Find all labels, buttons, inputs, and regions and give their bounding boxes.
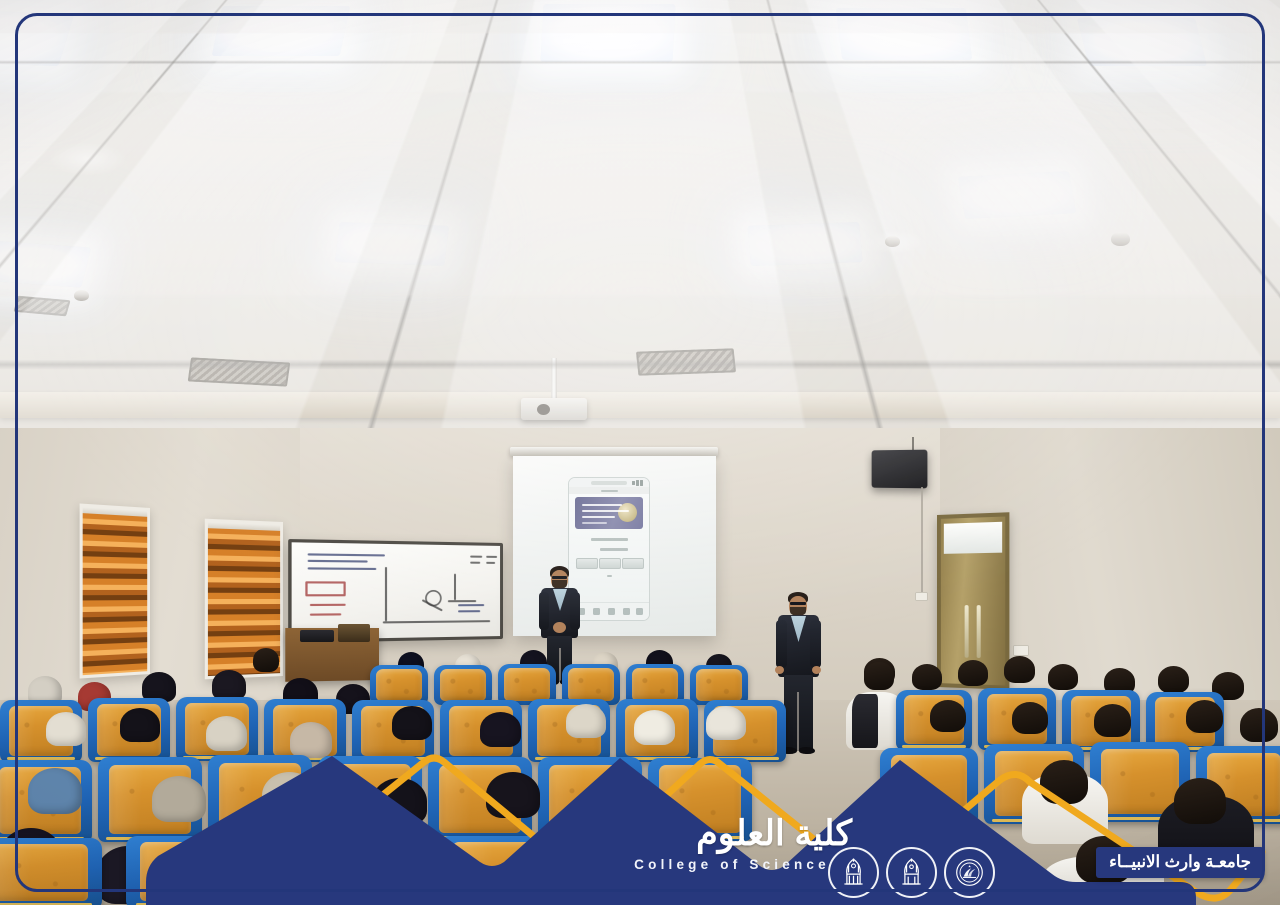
ceiling-led-panel — [958, 171, 1076, 219]
ceiling-led-panel — [335, 222, 449, 266]
wall-outlet — [1013, 645, 1029, 656]
seat — [370, 665, 428, 705]
audience-head — [392, 706, 432, 740]
audience-head — [46, 712, 86, 746]
seat — [690, 665, 748, 705]
seat — [434, 665, 492, 705]
audience-head — [706, 706, 746, 740]
audience-head — [1158, 666, 1189, 693]
university-name-tag: جامعـة وارث الانبيــاء — [1096, 847, 1264, 878]
door-handle[interactable] — [965, 605, 969, 658]
audience-head — [1094, 704, 1131, 737]
phone-action-button — [622, 558, 644, 569]
window-left-far — [80, 503, 150, 678]
projector-mount-pole — [551, 358, 557, 402]
window-blind — [83, 507, 148, 675]
college-name-arabic: كلية العلوم — [612, 816, 852, 851]
laptop-left — [300, 630, 334, 642]
phone-action-button — [599, 558, 621, 569]
hvac-vent — [636, 348, 736, 375]
audience-head — [958, 660, 988, 686]
audience-head — [290, 722, 332, 758]
audience-head — [1012, 702, 1048, 734]
audience-head — [1240, 708, 1278, 742]
audience-torso — [852, 694, 878, 748]
hvac-vent — [188, 357, 291, 386]
screen-housing — [510, 447, 718, 456]
shrine-emblem-middle-icon — [886, 847, 937, 898]
speaker-cable-drop — [921, 487, 923, 595]
shrine-emblem-left-icon — [828, 847, 879, 898]
ceiling-led-panel — [836, 8, 972, 60]
door-handle[interactable] — [977, 605, 981, 658]
ceiling-led-panel — [0, 240, 91, 287]
laptop-right — [338, 624, 370, 642]
audience-head — [1004, 656, 1035, 683]
ceiling-diffuser — [49, 142, 127, 176]
audience-head — [480, 712, 521, 747]
university-seal-icon: ★ — [944, 847, 995, 898]
event-photo-card: كلية العلوم College of Science — [0, 0, 1280, 905]
audience-head — [912, 664, 942, 690]
brand-banner-content: كلية العلوم College of Science — [0, 770, 1280, 905]
wall-outlet — [915, 592, 928, 601]
ceiling-sensor-icon — [74, 290, 89, 301]
ceiling-projector — [521, 398, 587, 420]
audience-head — [634, 710, 675, 745]
phone-notch-icon — [591, 481, 627, 486]
audience-head — [120, 708, 160, 742]
wall-loudspeaker — [872, 450, 928, 489]
audience-head — [206, 716, 247, 751]
seal-group: ★ — [828, 847, 995, 898]
ceiling-led-panel — [212, 6, 351, 56]
audience-head — [566, 704, 606, 738]
projector-lens-icon — [537, 404, 550, 415]
ceiling-soffit-edge — [0, 392, 1280, 418]
audience-head — [1048, 664, 1078, 690]
security-camera-icon — [1111, 232, 1130, 246]
audience-head — [1186, 700, 1223, 733]
ceiling-led-panel — [748, 222, 863, 266]
ceiling-diffuser — [543, 28, 615, 54]
svg-text:★: ★ — [968, 865, 971, 869]
audience-head — [930, 700, 966, 732]
ceiling-sensor-icon — [885, 236, 900, 247]
door-transom-glass — [944, 522, 1002, 554]
suspended-grid-ceiling — [0, 0, 1280, 428]
audience-head — [212, 670, 246, 700]
ceiling-led-panel — [1077, 18, 1207, 66]
phone-hero-card — [575, 497, 643, 529]
audience-head — [864, 662, 894, 690]
college-name-english: College of Science — [612, 857, 852, 872]
audience-head — [253, 648, 279, 672]
